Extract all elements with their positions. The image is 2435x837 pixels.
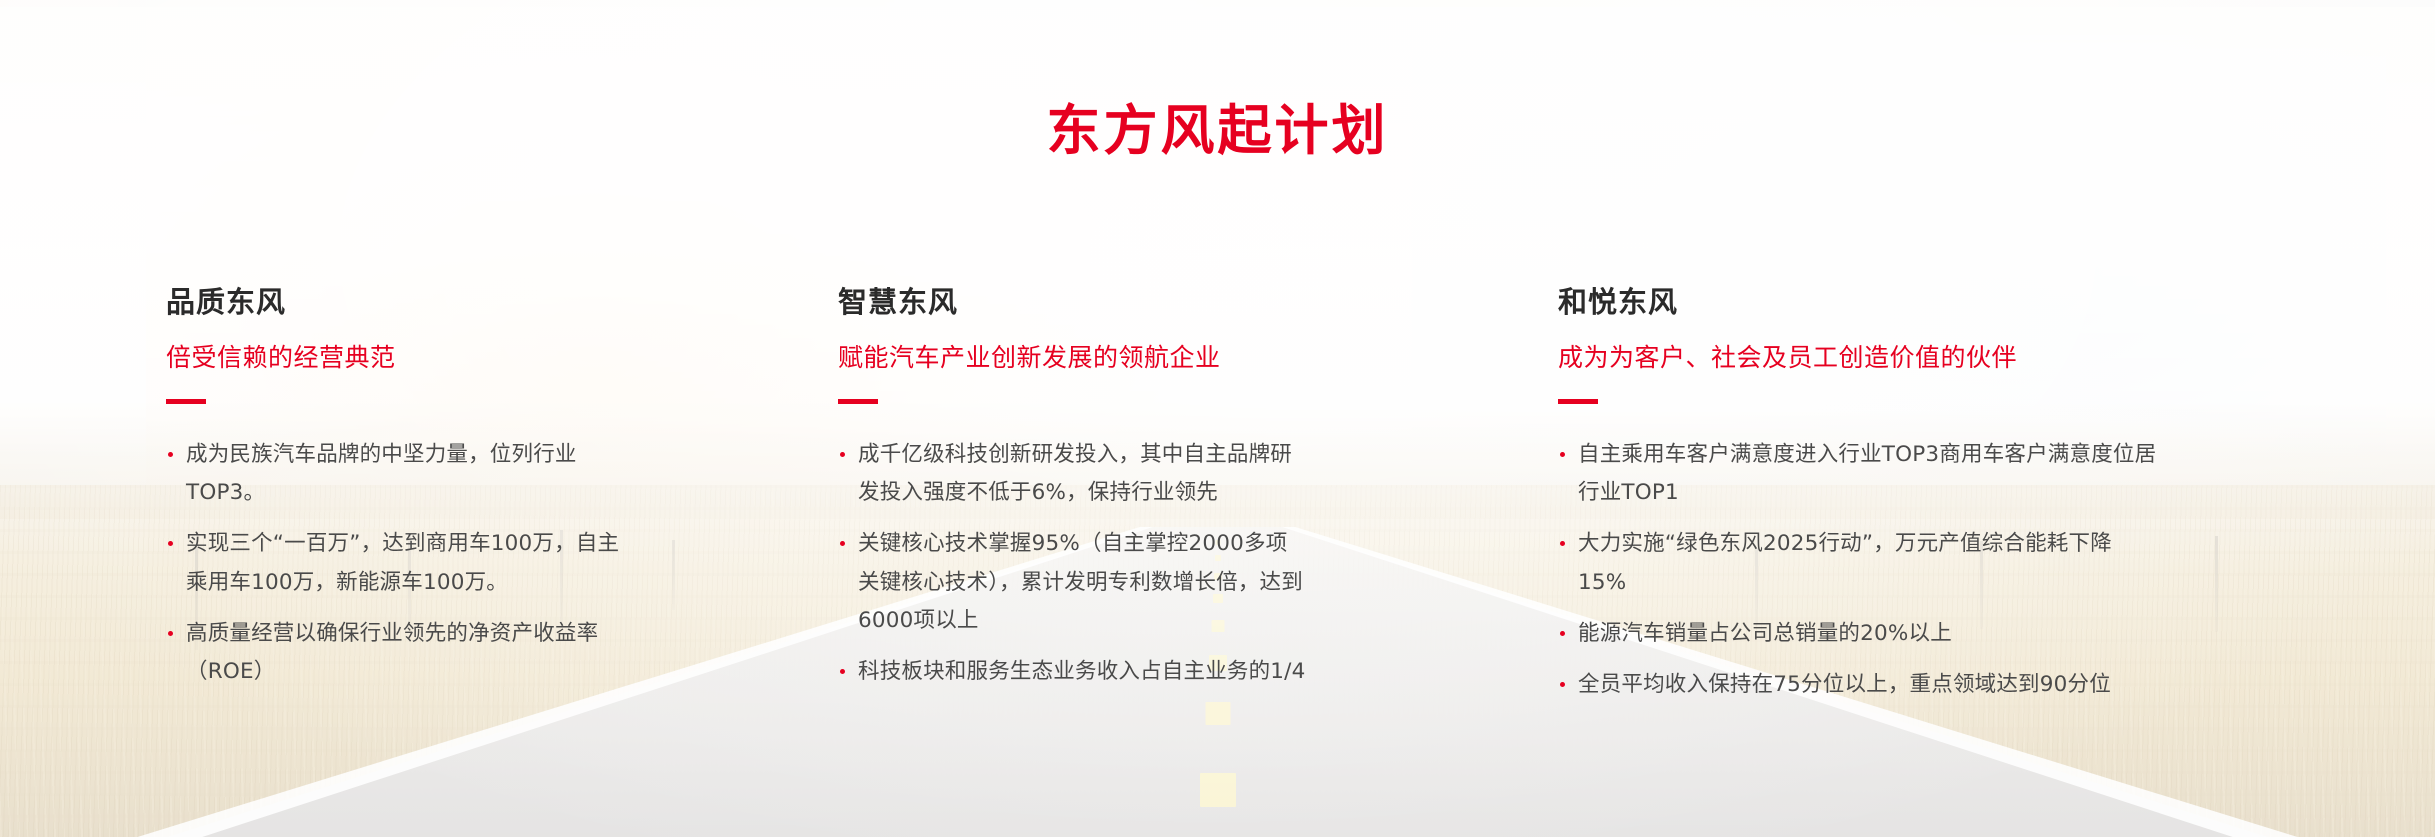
list-item-text: 大力实施“绿色东风2025行动”，万元产值综合能耗下降15% xyxy=(1578,531,2112,594)
column-title: 品质东风 xyxy=(166,285,720,320)
content-layer: 东方风起计划 品质东风 倍受信赖的经营典范 成为民族汽车品牌的中坚力量，位列行业… xyxy=(0,0,2435,837)
column-subtitle: 倍受信赖的经营典范 xyxy=(166,343,720,373)
plan-columns: 品质东风 倍受信赖的经营典范 成为民族汽车品牌的中坚力量，位列行业TOP3。 实… xyxy=(0,285,2435,717)
bullet-dot-icon xyxy=(1560,631,1565,636)
list-item: 成为民族汽车品牌的中坚力量，位列行业TOP3。 xyxy=(166,436,631,513)
column-divider xyxy=(166,399,206,404)
bullet-dot-icon xyxy=(1560,452,1565,457)
list-item-text: 关键核心技术掌握95%（自主掌控2000多项关键核心技术），累计发明专利数增长倍… xyxy=(858,531,1303,633)
column-subtitle: 成为为客户、社会及员工创造价值的伙伴 xyxy=(1558,343,2320,373)
bullet-dot-icon xyxy=(1560,682,1565,687)
list-item-text: 成千亿级科技创新研发投入，其中自主品牌研发投入强度不低于6%，保持行业领先 xyxy=(858,442,1292,505)
list-item-text: 能源汽车销量占公司总销量的20%以上 xyxy=(1578,621,1952,646)
list-item: 全员平均收入保持在75分位以上，重点领域达到90分位 xyxy=(1558,666,2158,704)
column-title: 和悦东风 xyxy=(1558,285,2320,320)
list-item-text: 全员平均收入保持在75分位以上，重点领域达到90分位 xyxy=(1578,672,2111,697)
list-item-text: 科技板块和服务生态业务收入占自主业务的1/4 xyxy=(858,659,1306,684)
list-item: 自主乘用车客户满意度进入行业TOP3商用车客户满意度位居行业TOP1 xyxy=(1558,436,2158,513)
list-item: 大力实施“绿色东风2025行动”，万元产值综合能耗下降15% xyxy=(1558,525,2158,602)
plan-column-zhihui-dongfeng: 智慧东风 赋能汽车产业创新发展的领航企业 成千亿级科技创新研发投入，其中自主品牌… xyxy=(720,285,1440,717)
list-item: 高质量经营以确保行业领先的净资产收益率（ROE） xyxy=(166,615,631,692)
column-title: 智慧东风 xyxy=(838,285,1440,320)
list-item: 关键核心技术掌握95%（自主掌控2000多项关键核心技术），累计发明专利数增长倍… xyxy=(838,525,1308,640)
plan-column-heyue-dongfeng: 和悦东风 成为为客户、社会及员工创造价值的伙伴 自主乘用车客户满意度进入行业TO… xyxy=(1440,285,2320,717)
list-item: 能源汽车销量占公司总销量的20%以上 xyxy=(1558,615,2158,653)
bullet-dot-icon xyxy=(1560,541,1565,546)
list-item-text: 实现三个“一百万”，达到商用车100万，自主乘用车100万，新能源车100万。 xyxy=(186,531,619,594)
list-item-text: 成为民族汽车品牌的中坚力量，位列行业TOP3。 xyxy=(186,442,577,505)
list-item-text: 自主乘用车客户满意度进入行业TOP3商用车客户满意度位居行业TOP1 xyxy=(1578,442,2156,505)
bullet-dot-icon xyxy=(840,541,845,546)
column-subtitle: 赋能汽车产业创新发展的领航企业 xyxy=(838,343,1440,373)
bullet-dot-icon xyxy=(168,541,173,546)
list-item-text: 高质量经营以确保行业领先的净资产收益率（ROE） xyxy=(186,621,598,684)
column-bullet-list: 成千亿级科技创新研发投入，其中自主品牌研发投入强度不低于6%，保持行业领先 关键… xyxy=(838,436,1440,692)
list-item: 实现三个“一百万”，达到商用车100万，自主乘用车100万，新能源车100万。 xyxy=(166,525,631,602)
bullet-dot-icon xyxy=(840,452,845,457)
page-root: 东方风起计划 品质东风 倍受信赖的经营典范 成为民族汽车品牌的中坚力量，位列行业… xyxy=(0,0,2435,837)
column-divider xyxy=(1558,399,1598,404)
page-title: 东方风起计划 xyxy=(0,86,2435,165)
column-bullet-list: 成为民族汽车品牌的中坚力量，位列行业TOP3。 实现三个“一百万”，达到商用车1… xyxy=(166,436,720,692)
bullet-dot-icon xyxy=(840,669,845,674)
column-divider xyxy=(838,399,878,404)
list-item: 科技板块和服务生态业务收入占自主业务的1/4 xyxy=(838,653,1308,691)
bullet-dot-icon xyxy=(168,631,173,636)
bullet-dot-icon xyxy=(168,452,173,457)
list-item: 成千亿级科技创新研发投入，其中自主品牌研发投入强度不低于6%，保持行业领先 xyxy=(838,436,1308,513)
column-bullet-list: 自主乘用车客户满意度进入行业TOP3商用车客户满意度位居行业TOP1 大力实施“… xyxy=(1558,436,2320,705)
plan-column-pinzhi-dongfeng: 品质东风 倍受信赖的经营典范 成为民族汽车品牌的中坚力量，位列行业TOP3。 实… xyxy=(0,285,720,717)
